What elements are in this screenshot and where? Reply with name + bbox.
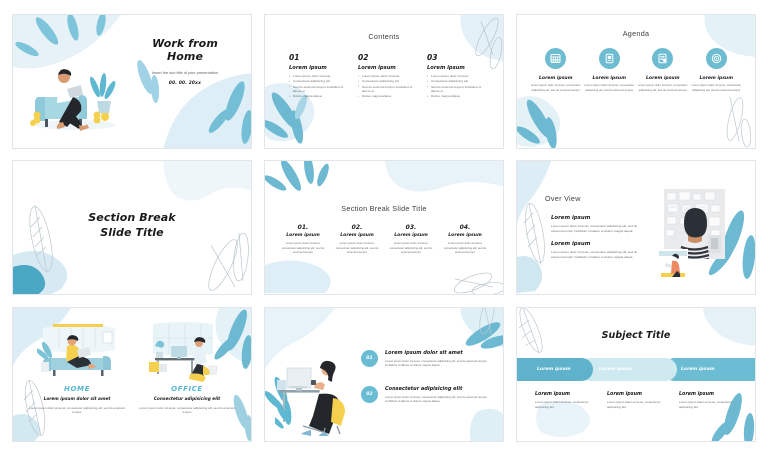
column-heading: Lorem ipsum: [427, 65, 489, 71]
page-title: Contents: [265, 32, 503, 41]
overview-block: Lorem ipsum Lorem ipsum dolor sit amet, …: [551, 241, 643, 259]
column-body: Lorem ipsum dolor sit amet, consectetur …: [607, 400, 669, 409]
list-item: Sed do eiusmod tempor incididunt ut labo…: [358, 85, 420, 94]
decorative-leaves-background: [265, 308, 504, 442]
section-title-line1: Section Break: [88, 211, 175, 224]
home-heading: Lorem ipsum dolor sit amet: [25, 397, 129, 402]
column-heading: Lorem ipsum: [535, 392, 597, 397]
slide-thumbnail-section-break[interactable]: Section Break Slide Title: [12, 160, 252, 295]
agenda-item[interactable]: Lorem ipsum Lorem ipsum dolor sit amet, …: [531, 48, 581, 92]
column-body: Lorem ipsum dolor sit amet, consectetur …: [387, 241, 435, 254]
home-label: HOME: [25, 385, 129, 393]
item-heading: Lorem ipsum: [531, 76, 581, 81]
page-title: Section Break Slide Title: [265, 204, 503, 213]
list-item: Lorem ipsum dolor sit amet: [427, 74, 489, 79]
page-title: Section Break Slide Title: [13, 211, 251, 241]
block-heading: Lorem ipsum: [551, 215, 643, 221]
slide-thumbnail-home-office[interactable]: HOME Lorem ipsum dolor sit amet Lorem ip…: [12, 307, 252, 442]
column-body: Lorem ipsum dolor sit amet, consectetur …: [679, 400, 741, 409]
illustration-woman-at-office-desk: [145, 322, 221, 384]
page-title: Over View: [545, 194, 581, 203]
subject-column: Lorem ipsum Lorem ipsum dolor sit amet, …: [607, 392, 669, 409]
column-body: Lorem ipsum dolor sit amet, consectetur …: [279, 241, 327, 254]
point-text: Consectetur adipisicing elit Lorem ipsum…: [385, 386, 491, 403]
column-heading: Lorem ipsum: [289, 65, 351, 71]
column-number: 04.: [441, 224, 489, 231]
agenda-item[interactable]: Lorem ipsum Lorem ipsum dolor sit amet, …: [584, 48, 634, 92]
slide-thumbnail-over-view[interactable]: Over View Lorem ipsum Lorem ipsum dolor …: [516, 160, 756, 295]
column-body: Lorem ipsum dolor sit amet, consectetur …: [441, 241, 489, 254]
page-title: Subject Title: [517, 330, 755, 341]
office-body: Lorem ipsum dolor sit amet, consectetur …: [135, 406, 239, 415]
contents-column: 01 Lorem ipsum Lorem ipsum dolor sit ame…: [289, 53, 351, 100]
home-column: HOME Lorem ipsum dolor sit amet Lorem ip…: [25, 385, 129, 415]
list-item: Lorem ipsum dolor sit amet: [289, 74, 351, 79]
target-icon: [706, 48, 727, 69]
column-heading: Lorem ipsum: [679, 392, 741, 397]
column-body: Lorem ipsum dolor sit amet, consectetur …: [535, 400, 597, 409]
slide-thumbnail-agenda[interactable]: Agenda Lorem ipsum Lorem ipsum dolor sit…: [516, 14, 756, 149]
office-heading: Consectetur adipisicing elit: [135, 397, 239, 402]
section-title-line2: Slide Title: [100, 226, 164, 239]
home-body: Lorem ipsum dolor sit amet, consectetur …: [25, 406, 129, 415]
checklist-report-icon: [652, 48, 673, 69]
section-column: 02. Lorem ipsum Lorem ipsum dolor sit am…: [333, 224, 381, 254]
block-body: Lorem ipsum dolor sit amet, consectetur …: [551, 224, 643, 233]
overview-block: Lorem ipsum Lorem ipsum dolor sit amet, …: [551, 215, 643, 233]
slide-thumbnail-section-break-columns[interactable]: Section Break Slide Title 01. Lorem ipsu…: [264, 160, 504, 295]
section-column: 01. Lorem ipsum Lorem ipsum dolor sit am…: [279, 224, 327, 254]
section-column: 04. Lorem ipsum Lorem ipsum dolor sit am…: [441, 224, 489, 254]
numbered-point: 02 Consectetur adipisicing elit Lorem ip…: [361, 386, 491, 403]
subject-column: Lorem ipsum Lorem ipsum dolor sit amet, …: [679, 392, 741, 409]
item-body: Lorem ipsum dolor sit amet, consectetur …: [691, 83, 741, 91]
page-title: Agenda: [517, 29, 755, 38]
column-number: 01.: [279, 224, 327, 231]
contents-column: 02 Lorem ipsum Lorem ipsum dolor sit ame…: [358, 53, 420, 100]
list-item: Dolore magna aliqua.: [289, 94, 351, 99]
column-heading: Lorem ipsum: [279, 233, 327, 238]
column-number: 02.: [333, 224, 381, 231]
point-text: Lorem ipsum dolor sit amet Lorem ipsum d…: [385, 350, 491, 367]
illustration-person-at-desk-small: [658, 249, 688, 279]
bar-label: Lorem ipsum: [681, 367, 715, 372]
item-body: Lorem ipsum dolor sit amet, consectetur …: [638, 83, 688, 91]
column-heading: Lorem ipsum: [333, 233, 381, 238]
contents-column: 03 Lorem ipsum Lorem ipsum dolor sit ame…: [427, 53, 489, 100]
subject-bar[interactable]: Lorem ipsum: [516, 358, 593, 381]
list-item: Consectetur adipisicing elit: [358, 79, 420, 84]
column-number: 03: [427, 53, 489, 62]
block-body: Lorem ipsum dolor sit amet, consectetur …: [551, 250, 643, 259]
list-item: Dolore magna aliqua.: [358, 94, 420, 99]
list-item: Sed do eiusmod tempor incididunt ut labo…: [289, 85, 351, 94]
column-heading: Lorem ipsum: [607, 392, 669, 397]
agenda-item[interactable]: Lorem ipsum Lorem ipsum dolor sit amet, …: [638, 48, 688, 92]
slide-date: 00. 00. 20xx: [133, 81, 237, 86]
column-bullet-list: Lorem ipsum dolor sit amet Consectetur a…: [358, 74, 420, 99]
item-heading: Lorem ipsum: [638, 76, 688, 81]
column-number: 03.: [387, 224, 435, 231]
column-number: 02: [358, 53, 420, 62]
column-heading: Lorem ipsum: [441, 233, 489, 238]
decorative-leaves-background: [13, 308, 252, 442]
slide-thumbnail-subject-title[interactable]: Subject Title Lorem ipsum Lorem ipsum Lo…: [516, 307, 756, 442]
column-heading: Lorem ipsum: [358, 65, 420, 71]
block-heading: Lorem ipsum: [551, 241, 643, 247]
point-heading: Consectetur adipisicing elit: [385, 386, 491, 392]
illustration-woman-on-couch-with-laptop: [37, 322, 121, 384]
office-column: OFFICE Consectetur adipisicing elit Lore…: [135, 385, 239, 415]
point-body: Lorem ipsum dolor sit amet, consectetur …: [385, 359, 491, 368]
list-item: Consectetur adipisicing elit: [289, 79, 351, 84]
subject-column: Lorem ipsum Lorem ipsum dolor sit amet, …: [535, 392, 597, 409]
slide-thumbnail-contents[interactable]: Contents 01 Lorem ipsum Lorem ipsum dolo…: [264, 14, 504, 149]
list-item: Sed do eiusmod tempor incididunt ut labo…: [427, 85, 489, 94]
list-item: Consectetur adipisicing elit: [427, 79, 489, 84]
office-label: OFFICE: [135, 385, 239, 393]
document-icon: [599, 48, 620, 69]
list-item: Dolore magna aliqua.: [427, 94, 489, 99]
column-number: 01: [289, 53, 351, 62]
numbered-point: 01 Lorem ipsum dolor sit amet Lorem ipsu…: [361, 350, 491, 367]
subject-bar-group: Lorem ipsum Lorem ipsum Lorem ipsum: [517, 358, 755, 381]
agenda-item[interactable]: Lorem ipsum Lorem ipsum dolor sit amet, …: [691, 48, 741, 92]
column-bullet-list: Lorem ipsum dolor sit amet Consectetur a…: [289, 74, 351, 99]
subject-bar[interactable]: Lorem ipsum: [579, 358, 677, 381]
illustration-woman-at-desk-with-coffee: [275, 350, 367, 436]
item-body: Lorem ipsum dolor sit amet, consectetur …: [531, 83, 581, 91]
column-body: Lorem ipsum dolor sit amet, consectetur …: [333, 241, 381, 254]
page-title: Work from Home: [133, 37, 237, 63]
bar-label: Lorem ipsum: [599, 367, 633, 372]
bar-label: Lorem ipsum: [537, 367, 571, 372]
point-number-badge: 01: [361, 350, 378, 367]
slide-thumbnail-title[interactable]: Work from Home Insert the sub title of y…: [12, 14, 252, 149]
slide-thumbnail-numbered-points[interactable]: 01 Lorem ipsum dolor sit amet Lorem ipsu…: [264, 307, 504, 442]
slide-subtitle: Insert the sub title of your presentatio…: [133, 70, 237, 76]
point-heading: Lorem ipsum dolor sit amet: [385, 350, 491, 356]
slide-thumbnail-grid: Work from Home Insert the sub title of y…: [0, 0, 768, 456]
list-item: Lorem ipsum dolor sit amet: [358, 74, 420, 79]
item-heading: Lorem ipsum: [584, 76, 634, 81]
point-number-badge: 02: [361, 386, 378, 403]
item-heading: Lorem ipsum: [691, 76, 741, 81]
illustration-man-on-sofa-with-laptop: [29, 53, 121, 131]
item-body: Lorem ipsum dolor sit amet, consectetur …: [584, 83, 634, 91]
calendar-grid-icon: [545, 48, 566, 69]
point-body: Lorem ipsum dolor sit amet, consectetur …: [385, 395, 491, 404]
column-heading: Lorem ipsum: [387, 233, 435, 238]
column-bullet-list: Lorem ipsum dolor sit amet Consectetur a…: [427, 74, 489, 99]
section-column: 03. Lorem ipsum Lorem ipsum dolor sit am…: [387, 224, 435, 254]
